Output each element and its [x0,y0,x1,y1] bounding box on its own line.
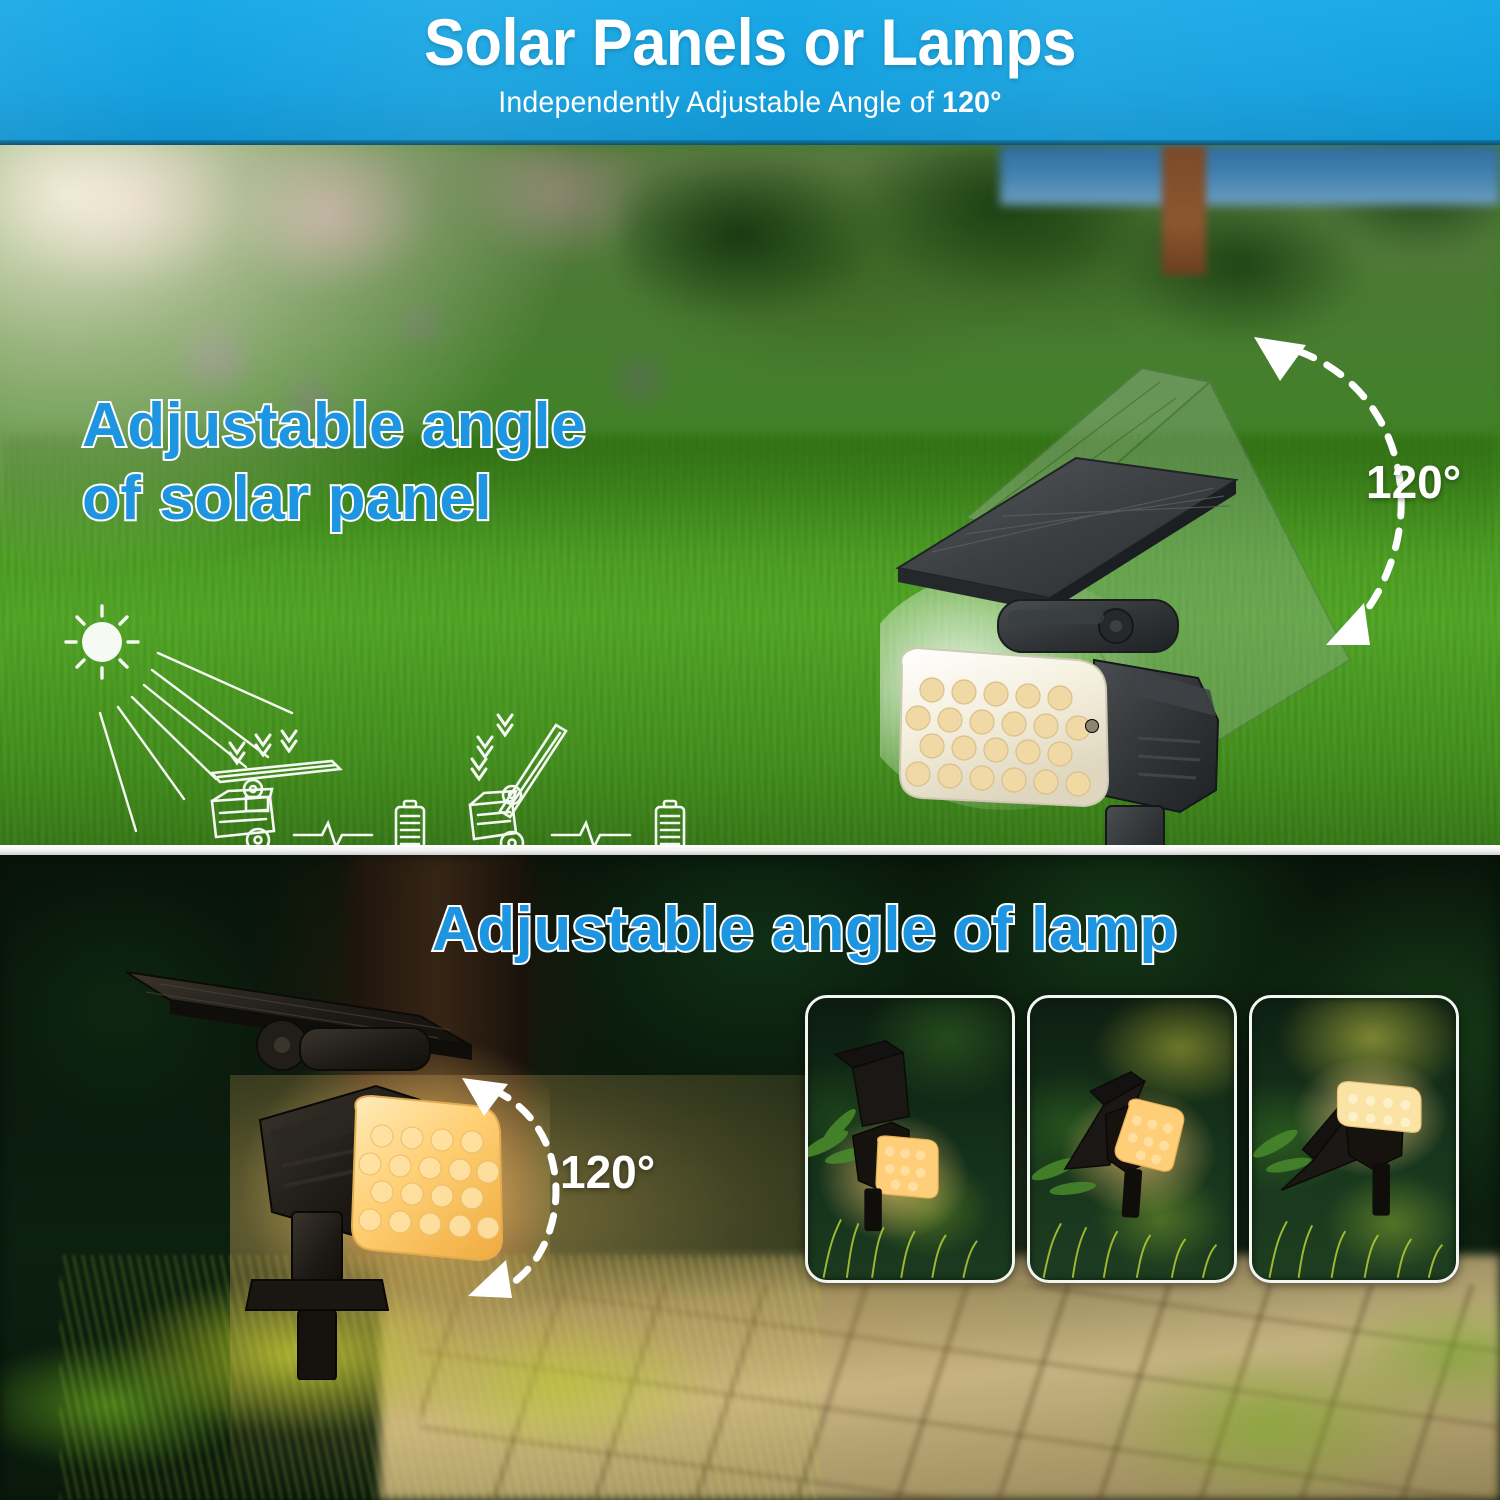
bottom-headline: Adjustable angle of lamp [432,893,1178,966]
battery-icon-2 [656,801,684,845]
top-scene-daylight: Adjustable angle of solar panel [0,145,1500,845]
thumbnail-lamp-1 [808,998,1012,1278]
header-subtitle: Independently Adjustable Angle of 120° [38,86,1463,120]
thumbnail-lamp-3 [1252,998,1456,1278]
hinge-bracket [998,600,1178,652]
thumbnail-lamp-angle-1[interactable] [805,995,1015,1283]
diagram-svg [60,585,720,845]
thumbnail-lamp-angle-3[interactable] [1249,995,1459,1283]
lamp-head-housing [1094,660,1218,812]
background-wooden-post [1162,145,1206,275]
sun-icon [82,622,122,662]
top-headline: Adjustable angle of solar panel [82,389,586,535]
double-chevron-down-icon-2 [472,715,512,779]
lamp-diagram-flat [212,761,340,845]
pulse-line-icon-2 [552,823,630,845]
header-banner: Solar Panels or Lamps Independently Adju… [0,0,1500,145]
arrow-head-down [1326,603,1370,645]
page-title: Solar Panels or Lamps [53,8,1448,77]
solar-charging-diagram [60,585,720,845]
background-blue-fence [1000,145,1500,205]
thumbnail-strip [805,995,1460,1283]
thumbnail-lamp-angle-2[interactable] [1027,995,1237,1283]
led-head [900,648,1108,806]
arrow-head-down-bottom [468,1260,512,1298]
battery-icon [396,801,424,845]
header-subtitle-text: Independently Adjustable Angle of [498,86,942,119]
pulse-line-icon [294,823,372,845]
sun-rays [100,653,292,831]
angle-label-top: 120° [1366,455,1461,509]
hinge-bracket-night [257,1020,430,1070]
lamp-diagram-tilted [470,725,566,845]
panel-divider [0,845,1500,855]
ground-stake [1058,806,1216,845]
product-feature-image: Solar Panels or Lamps Independently Adju… [0,0,1500,1500]
angle-arc-bottom [450,1060,630,1300]
arrow-head-up [1254,337,1306,381]
header-subtitle-angle: 120° [942,86,1002,119]
arc-dashed-line-bottom [494,1090,556,1282]
thumbnail-lamp-2 [1030,998,1234,1278]
